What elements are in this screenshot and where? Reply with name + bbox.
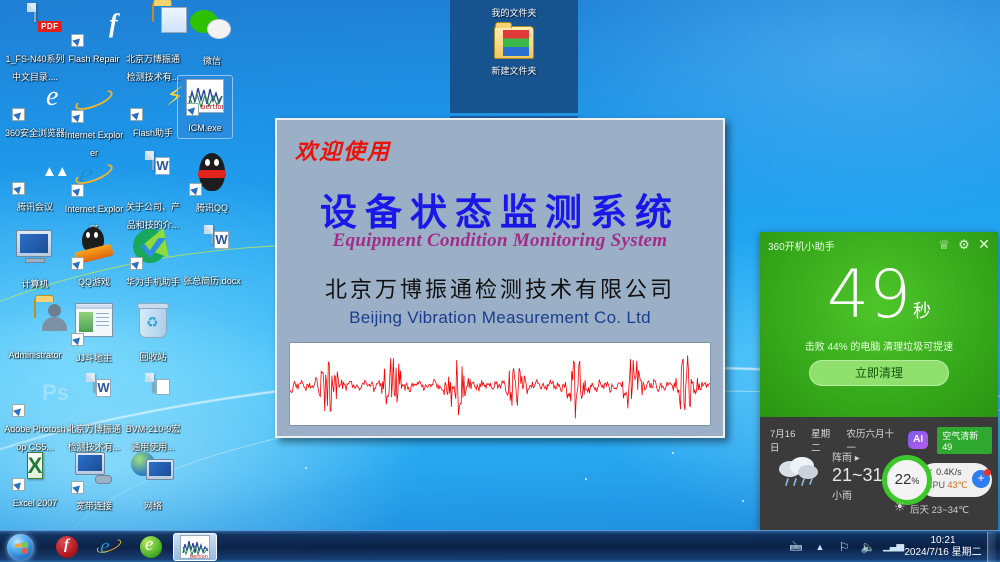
desktop-icon-label: 网络: [144, 501, 162, 511]
network-globe-icon: [129, 451, 177, 495]
weather-wind-label: 阵雨 ▸: [832, 449, 883, 464]
system-title-en: Equipment Condition Monitoring System: [277, 230, 723, 252]
weather-date: 7月16日: [770, 426, 802, 454]
tencent-meeting-icon: ▲▲: [11, 152, 59, 196]
desktop-icon-label: 华为手机助手: [126, 277, 180, 287]
vibration-waveform: [290, 343, 710, 425]
ie-icon: e: [96, 535, 122, 559]
word-document-icon: W: [70, 374, 118, 418]
cpu-usage-value: 22: [895, 471, 912, 488]
cpu-temp-value: 43℃: [948, 480, 968, 490]
tomorrow-forecast: 后天 23~34℃: [910, 502, 969, 516]
360-widget-green-panel: 360开机小助手 ♕ ⚙ ✕ 49秒 击败 44% 的电脑 清理垃圾可提速 立即…: [760, 232, 998, 417]
icm-waveform-icon: bertion: [185, 79, 225, 117]
desktop-icon-bvm210-doc[interactable]: BVM-210-9宏通用使用...: [122, 374, 184, 455]
user-folder-icon: [11, 300, 59, 344]
welcome-text: 欢迎使用: [295, 134, 391, 166]
desktop-icon-computer[interactable]: 计算机: [4, 226, 66, 292]
app-window-icon: [70, 303, 118, 347]
browser360-taskbar-button[interactable]: e: [131, 533, 171, 561]
flash-helper-icon: ⚡: [129, 78, 177, 122]
desktop-icon-pdf-catalog[interactable]: PDF 1_FS-N40系列中文目录....: [4, 4, 66, 85]
weather-info: 阵雨 ▸ 21~31 小雨: [832, 449, 883, 502]
pdf-file-icon: PDF: [11, 4, 59, 48]
desktop-icon-network[interactable]: 网络: [122, 448, 184, 514]
excel-icon: X: [11, 448, 59, 492]
air-quality-badge: 空气清新 49: [937, 427, 992, 454]
wallpaper-sparkle: [742, 500, 744, 502]
cpu-usage-ring[interactable]: 22%: [882, 455, 932, 505]
icm-waveform-icon: bertion: [180, 535, 210, 559]
desktop-icon-label: 宽带连接: [76, 501, 112, 511]
word-document-icon: W: [188, 226, 236, 270]
action-center-icon[interactable]: ⚐: [835, 538, 853, 556]
gear-icon[interactable]: ⚙: [956, 237, 972, 253]
desktop-icon-label: Excel 2007: [13, 498, 58, 508]
new-folder-icon[interactable]: [494, 26, 534, 60]
desktop-icon-tencent-meeting[interactable]: ▲▲ 腾讯会议: [4, 152, 66, 215]
wallpaper-sparkle: [305, 467, 307, 469]
wallpaper-sparkle: [672, 452, 674, 454]
desktop-icon-company-intro-doc[interactable]: W 关于公司、产品和技的介...: [122, 152, 184, 233]
desktop-icon-jj-doudizhu[interactable]: JJ斗地主: [63, 300, 125, 366]
company-name-cn: 北京万博振通检测技术有限公司: [277, 272, 723, 304]
hidden-icons-icon[interactable]: 🖮: [787, 538, 805, 556]
desktop-icon-label: ICM.exe: [188, 123, 222, 133]
clock-date: 2024/7/16 星期二: [904, 547, 982, 559]
huawei-hisuite-icon: [129, 227, 177, 271]
desktop-icon-flash-repair[interactable]: f Flash Repair: [63, 4, 125, 67]
show-hidden-icons-arrow-icon[interactable]: ▲: [811, 538, 829, 556]
desktop-icon-qq-game[interactable]: QQ游戏: [63, 226, 125, 290]
desktop-icon-label: 腾讯QQ: [196, 203, 228, 213]
desktop-icon-label: 计算机: [21, 279, 48, 289]
cpu-usage-unit: %: [911, 476, 919, 486]
desktop-icon-resume-docx[interactable]: W 张总简历.docx: [181, 226, 243, 289]
boot-time-value: 49秒: [760, 262, 998, 345]
desktop-icon-label: Flash Repair: [68, 54, 119, 64]
desktop-icon-label: QQ游戏: [78, 277, 110, 287]
360-boot-assistant-widget[interactable]: 360开机小助手 ♕ ⚙ ✕ 49秒 击败 44% 的电脑 清理垃圾可提速 立即…: [760, 232, 998, 530]
desktop-icon-label: 回收站: [139, 352, 166, 362]
clean-now-button[interactable]: 立即清理: [809, 360, 949, 386]
weather-panel[interactable]: 7月16日 星期二 农历六月十一 AI 空气清新 49: [760, 417, 998, 530]
ie-taskbar-button[interactable]: e: [89, 533, 129, 561]
cpu-temp-row: CPU 43℃: [926, 480, 968, 491]
desktop-icon-label: Flash助手: [133, 128, 173, 138]
browser-360-icon: e: [140, 536, 162, 558]
desktop-icon-excel-2007[interactable]: X Excel 2007: [4, 448, 66, 511]
show-desktop-button[interactable]: [987, 532, 996, 562]
sun-icon: ☀: [894, 499, 910, 515]
desktop-icon-label: 微信: [203, 56, 221, 66]
flash-taskbar-button[interactable]: f: [47, 533, 87, 561]
shirt-icon[interactable]: ♕: [936, 237, 952, 253]
desktop-icon-wechat[interactable]: 微信: [181, 4, 243, 69]
svg-text:bertion: bertion: [201, 103, 224, 111]
ai-badge[interactable]: AI: [908, 431, 928, 449]
document-icon: [129, 374, 177, 418]
desktop-icon-label: JJ斗地主: [76, 353, 112, 363]
windows-flag-icon: [15, 541, 28, 553]
desktop-icon-flash-helper[interactable]: ⚡ Flash助手: [122, 78, 184, 141]
browser-360-icon: e: [11, 78, 59, 122]
folder-window-item-label: 新建文件夹: [450, 64, 578, 77]
system-tray[interactable]: 🖮 ▲ ⚐ 🔈 ▁▃▅ 10:21 2024/7/16 星期二: [784, 531, 1000, 562]
qq-penguin-icon: [188, 153, 236, 197]
desktop-icon-label: 腾讯会议: [17, 202, 53, 212]
close-icon[interactable]: ✕: [976, 237, 992, 253]
recycle-bin-icon: ♻: [129, 302, 177, 346]
photoshop-icon: Ps: [11, 374, 59, 418]
vibration-waveform-panel: [289, 342, 711, 426]
network-speed-value: 0.4K/s: [936, 467, 962, 477]
desktop-icon-label: Administrator: [8, 350, 61, 360]
volume-icon[interactable]: 🔈: [859, 538, 877, 556]
folder-window-title: 我的文件夹: [450, 6, 578, 19]
desktop-icon-huawei-hisuite[interactable]: 华为手机助手: [122, 226, 184, 290]
desktop-icon-label: 360安全浏览器: [5, 128, 65, 138]
computer-icon: [11, 229, 59, 273]
folder-documents-icon: [129, 4, 177, 48]
qq-game-icon: [70, 227, 118, 271]
clock[interactable]: 10:21 2024/7/16 星期二: [904, 535, 982, 559]
desktop-icon-bvm-word-doc[interactable]: W 北京万博振通检测技术有...: [63, 374, 125, 455]
rain-cloud-icon: [774, 453, 822, 489]
360-widget-header: 360开机小助手 ♕ ⚙ ✕: [768, 237, 992, 253]
desktop-icon-icm-exe[interactable]: bertion ICM.exe: [178, 76, 232, 138]
desktop-icon-bvm-folder[interactable]: 北京万博振通检测技术有...: [122, 4, 184, 85]
boot-seconds: 49: [827, 256, 911, 333]
icm-taskbar-button[interactable]: bertion: [173, 533, 217, 561]
360-widget-title: 360开机小助手: [768, 238, 932, 253]
desktop-icon-broadband-connection[interactable]: 宽带连接: [63, 448, 125, 514]
boot-subtitle: 击败 44% 的电脑 清理垃圾可提速: [760, 338, 998, 353]
desktop-icon-label: 张总简历.docx: [183, 276, 241, 286]
weather-temp-range: 21~31: [832, 465, 883, 486]
desktop-icon-recycle-bin[interactable]: ♻ 回收站: [122, 300, 184, 365]
wechat-icon: [188, 6, 236, 50]
word-document-icon: W: [129, 152, 177, 196]
desktop-icon-internet-explorer-2[interactable]: e Internet Explorer: [63, 152, 125, 235]
taskbar[interactable]: f e e bertion 🖮 ▲: [0, 530, 1000, 562]
splash-window[interactable]: 欢迎使用 设备状态监测系统 Equipment Condition Monito…: [275, 118, 725, 438]
weather-condition: 小雨: [832, 487, 883, 502]
broadband-connection-icon: [70, 451, 118, 495]
ie-icon: e: [70, 154, 118, 198]
desktop[interactable]: PDF 1_FS-N40系列中文目录.... f Flash Repair 北京…: [0, 0, 1000, 562]
network-signal-icon[interactable]: ▁▃▅: [883, 538, 901, 556]
desktop-icon-administrator[interactable]: Administrator: [4, 300, 66, 363]
flash-icon: f: [70, 4, 118, 48]
ie-icon: e: [70, 80, 118, 124]
svg-text:bertion: bertion: [190, 554, 208, 559]
chevron-right-icon: ▸: [855, 453, 860, 464]
wallpaper-sparkle: [585, 478, 587, 480]
folder-window[interactable]: 我的文件夹 新建文件夹: [450, 0, 578, 113]
add-widget-button[interactable]: +: [972, 470, 990, 488]
system-title-cn: 设备状态监测系统: [277, 182, 723, 236]
company-name-en: Beijing Vibration Measurement Co. Ltd: [277, 308, 723, 328]
desktop-icon-tencent-qq[interactable]: 腾讯QQ: [181, 152, 243, 216]
clock-time: 10:21: [904, 535, 982, 547]
desktop-icon-photoshop[interactable]: Ps Adobe Photoshop CS5...: [4, 374, 66, 455]
desktop-icon-internet-explorer[interactable]: e Internet Explorer: [63, 78, 125, 161]
start-button[interactable]: [1, 532, 45, 562]
desktop-icon-360-browser[interactable]: e 360安全浏览器: [4, 78, 66, 141]
flash-icon: f: [56, 536, 78, 558]
boot-seconds-unit: 秒: [913, 301, 931, 322]
